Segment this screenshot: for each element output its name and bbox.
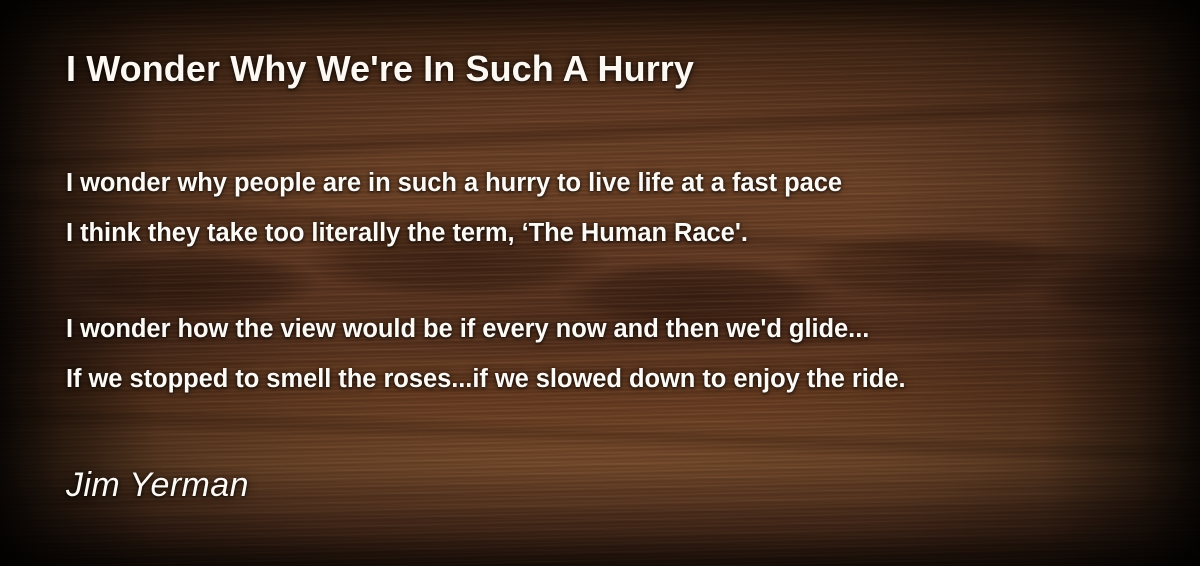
poem-line: I wonder how the view would be if every … [66, 304, 1156, 354]
poem-body: I wonder why people are in such a hurry … [66, 158, 1156, 404]
poem-stanza: I wonder how the view would be if every … [66, 304, 1156, 404]
poem-title: I Wonder Why We're In Such A Hurry [66, 49, 694, 89]
poem-content: I Wonder Why We're In Such A Hurry I won… [0, 0, 1200, 566]
poem-stanza: I wonder why people are in such a hurry … [66, 158, 1156, 258]
poem-line: I think they take too literally the term… [66, 208, 1156, 258]
poem-poster: I Wonder Why We're In Such A Hurry I won… [0, 0, 1200, 566]
poem-line: I wonder why people are in such a hurry … [66, 158, 1156, 208]
poem-author: Jim Yerman [66, 466, 249, 505]
poem-line: If we stopped to smell the roses...if we… [66, 354, 1156, 404]
